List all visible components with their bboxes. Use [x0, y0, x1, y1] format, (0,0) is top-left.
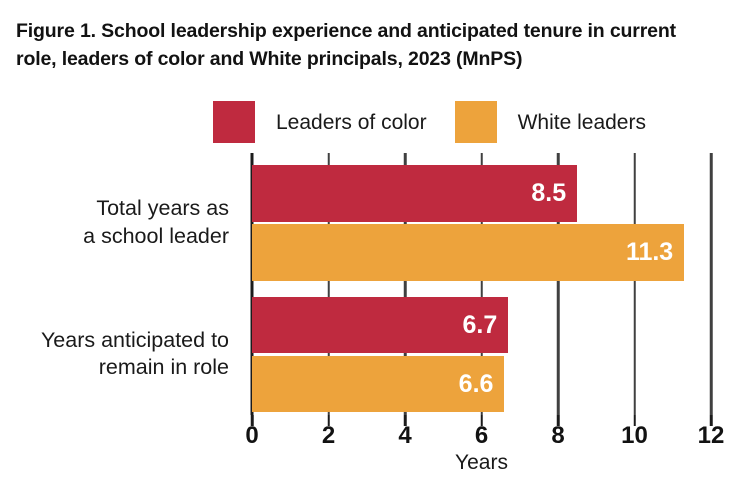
category-label: Total years asa school leader [0, 195, 229, 251]
x-tick-label: 6 [475, 424, 488, 448]
x-tick-label: 4 [398, 424, 411, 448]
bar[interactable]: 6.6 [252, 356, 504, 412]
x-tick-label: 2 [322, 424, 335, 448]
bar[interactable]: 11.3 [252, 224, 684, 281]
figure-title: Figure 1. School leadership experience a… [16, 18, 716, 73]
bar-value-label: 6.6 [459, 372, 494, 397]
y-axis-category-labels: Total years asa school leaderYears antic… [0, 153, 243, 415]
legend-swatch-white-leaders [455, 101, 497, 143]
x-tick-label: 10 [621, 424, 648, 448]
category-label-line: Years anticipated to [0, 327, 229, 355]
bar-value-label: 11.3 [626, 240, 673, 265]
bar-value-label: 6.7 [463, 313, 498, 338]
category-label: Years anticipated toremain in role [0, 327, 229, 383]
x-tick-label: 8 [551, 424, 564, 448]
legend-label-white-leaders: White leaders [518, 112, 646, 133]
figure-container: Figure 1. School leadership experience a… [0, 0, 740, 484]
category-label-line: remain in role [0, 354, 229, 382]
legend-item-white-leaders[interactable]: White leaders [455, 101, 646, 143]
x-tick-label: 12 [698, 424, 725, 448]
category-label-line: a school leader [0, 223, 229, 251]
legend-item-leaders-of-color[interactable]: Leaders of color [213, 101, 427, 143]
legend-swatch-leaders-of-color [213, 101, 255, 143]
plot-area: 8.511.36.76.6 [252, 153, 711, 415]
category-label-line: Total years as [0, 195, 229, 223]
legend-label-leaders-of-color: Leaders of color [276, 112, 427, 133]
chart-legend: Leaders of color White leaders [213, 101, 646, 143]
x-axis-title: Years [252, 452, 711, 473]
x-tick-label: 0 [245, 424, 258, 448]
bar[interactable]: 8.5 [252, 165, 577, 222]
bar[interactable]: 6.7 [252, 297, 508, 353]
bar-value-label: 8.5 [531, 181, 566, 206]
bar-series-group: 8.511.36.76.6 [252, 153, 711, 415]
x-axis-tick-labels: 024681012 [252, 424, 711, 454]
